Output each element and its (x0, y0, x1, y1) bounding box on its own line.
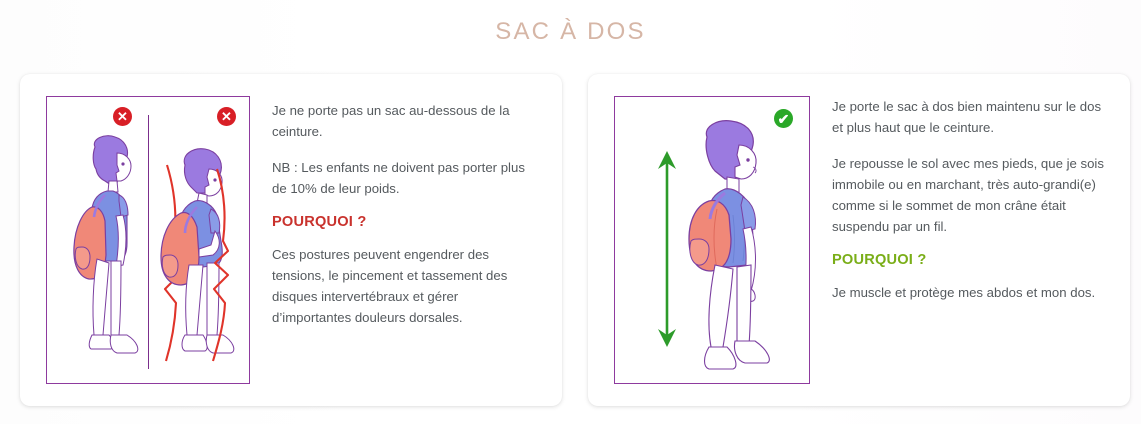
good-posture-card: ✔ (588, 74, 1130, 406)
cross-icon: ✕ (113, 107, 132, 126)
good-posture-illustration: ✔ (614, 96, 810, 384)
good-posture-paragraph-1: Je porte le sac à dos bien maintenu sur … (832, 96, 1108, 138)
good-posture-paragraph-2: Je repousse le sol avec mes pieds, que j… (832, 153, 1108, 237)
elongation-arrow-icon (655, 149, 679, 349)
cross-icon: ✕ (217, 107, 236, 126)
bad-posture-illustration: ✕ ✕ (46, 96, 250, 384)
bad-posture-text: Je ne porte pas un sac au-dessous de la … (250, 74, 562, 328)
bad-posture-card: ✕ ✕ (20, 74, 562, 406)
good-posture-why-heading: POURQUOI ? (832, 252, 1108, 268)
bad-posture-paragraph-1: Je ne porte pas un sac au-dessous de la … (272, 100, 540, 142)
figure-upright-high-backpack (677, 119, 797, 375)
bad-posture-paragraph-3: Ces postures peuvent engendrer des tensi… (272, 244, 540, 328)
figure-standing-low-backpack (61, 135, 157, 373)
page-title: SAC À DOS (0, 18, 1141, 46)
spine-pain-zigzag-icon (205, 169, 231, 365)
bad-posture-why-heading: POURQUOI ? (272, 214, 540, 230)
good-posture-paragraph-3: Je muscle et protège mes abdos et mon do… (832, 282, 1108, 303)
good-posture-text: Je porte le sac à dos bien maintenu sur … (810, 74, 1130, 303)
bad-posture-paragraph-2: NB : Les enfants ne doivent pas porter p… (272, 157, 540, 199)
